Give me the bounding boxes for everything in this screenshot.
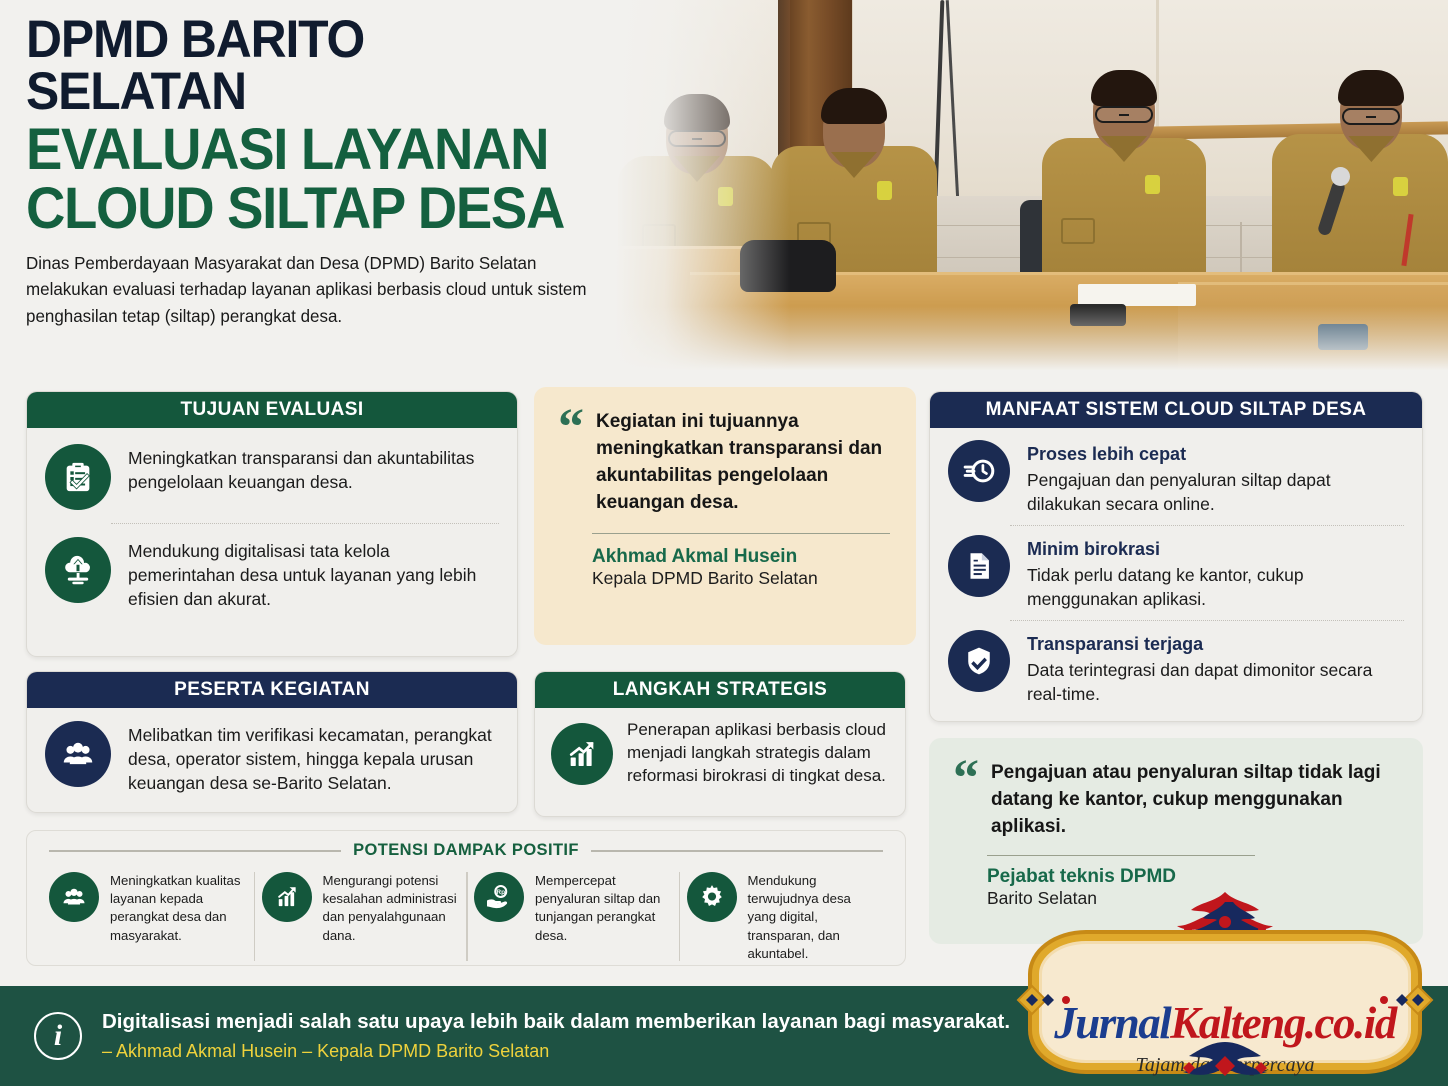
langkah-item: Penerapan aplikasi berbasis cloud menjad… — [551, 717, 889, 787]
manfaat-item-1-text: Pengajuan dan penyaluran siltap dapat di… — [1027, 470, 1331, 514]
ornament-bottom — [1125, 1036, 1325, 1086]
potensi-header-row: POTENSI DAMPAK POSITIF — [27, 831, 905, 860]
potensi-item-1: Meningkatkan kualitas layanan kepada per… — [41, 868, 254, 967]
section-potensi-dampak-positif: POTENSI DAMPAK POSITIF Meningkatkan kual… — [26, 830, 906, 966]
fast-clock-icon — [948, 440, 1010, 502]
quote-main-role: Kepala DPMD Barito Selatan — [592, 568, 890, 589]
meeting-photo — [600, 0, 1448, 376]
growth-chart-icon — [551, 723, 613, 785]
official-person-4-speaker — [1265, 68, 1448, 280]
card-peserta-header: PESERTA KEGIATAN — [27, 672, 517, 708]
hero-subtitle: Dinas Pemberdayaan Masyarakat dan Desa (… — [26, 250, 587, 329]
peserta-item: Melibatkan tim verifikasi kecamatan, per… — [45, 721, 499, 795]
infographic-page: DPMD BARITO SELATAN EVALUASI LAYANAN CLO… — [0, 0, 1448, 1086]
manfaat-item-1: Proses lebih cepat Pengajuan dan penyalu… — [948, 440, 1404, 516]
manfaat-item-3: Transparansi terjaga Data terintegrasi d… — [948, 630, 1404, 706]
card-tujuan-evaluasi: TUJUAN EVALUASI Meningkatkan transpa — [26, 391, 518, 657]
hero-text-block: DPMD BARITO SELATAN EVALUASI LAYANAN CLO… — [26, 14, 626, 329]
potensi-item-3-text: Mempercepat penyaluran siltap dan tunjan… — [535, 872, 671, 945]
quote-main-text: Kegiatan ini tujuannya meningkatkan tran… — [596, 409, 890, 517]
ornament-right — [1362, 972, 1436, 1028]
rupiah-hand-icon: Rp — [474, 872, 524, 922]
manfaat-item-1-title: Proses lebih cepat — [1027, 442, 1404, 467]
potensi-title: POTENSI DAMPAK POSITIF — [353, 841, 579, 860]
document-icon — [948, 535, 1010, 597]
people-group-icon — [49, 872, 99, 922]
photo-fade-bottom — [600, 306, 1448, 376]
page-title-line1: DPMD BARITO SELATAN — [26, 14, 590, 118]
tujuan-item-1-text: Meningkatkan transparansi dan akuntabili… — [128, 444, 499, 494]
manfaat-item-2-title: Minim birokrasi — [1027, 537, 1404, 562]
card-langkah-strategis: LANGKAH STRATEGIS Penerapan aplikasi ber… — [534, 671, 906, 817]
manfaat-item-3-text: Data terintegrasi dan dapat dimonitor se… — [1027, 660, 1372, 704]
rule-right — [591, 850, 883, 852]
potensi-item-4-text: Mendukung terwujudnya desa yang digital,… — [748, 872, 884, 963]
potensi-item-2-text: Mengurangi potensi kesalahan administras… — [323, 872, 459, 945]
divider — [1010, 525, 1404, 526]
clipboard-check-icon — [45, 444, 111, 510]
open-book — [1078, 284, 1196, 306]
quote-divider — [987, 855, 1255, 857]
info-icon: i — [34, 1012, 82, 1060]
quote-main-author: Akhmad Akmal Husein — [592, 546, 890, 568]
manfaat-item-3-title: Transparansi terjaga — [1027, 632, 1404, 657]
potensi-item-4: Mendukung terwujudnya desa yang digital,… — [679, 868, 892, 967]
card-tujuan-header: TUJUAN EVALUASI — [27, 392, 517, 428]
cloud-upload-icon — [45, 537, 111, 603]
divider — [111, 523, 499, 524]
peserta-text: Melibatkan tim verifikasi kecamatan, per… — [128, 721, 499, 795]
microphone-head — [1331, 167, 1350, 186]
potensi-item-3: Rp Mempercepat penyaluran siltap dan tun… — [466, 868, 679, 967]
quote-secondary-author: Pejabat teknis DPMD — [987, 866, 1397, 888]
manfaat-item-2-body: Minim birokrasi Tidak perlu datang ke ka… — [1027, 535, 1404, 611]
langkah-text: Penerapan aplikasi berbasis cloud menjad… — [627, 717, 889, 787]
footer-main-text: Digitalisasi menjadi salah satu upaya le… — [102, 1010, 1010, 1034]
ornament-left — [1014, 972, 1088, 1028]
quote-mark-icon: “ — [558, 409, 584, 517]
manfaat-item-1-body: Proses lebih cepat Pengajuan dan penyalu… — [1027, 440, 1404, 516]
gear-icon — [687, 872, 737, 922]
tujuan-item-1: Meningkatkan transparansi dan akuntabili… — [45, 444, 499, 510]
divider — [1010, 620, 1404, 621]
people-group-icon — [45, 721, 111, 787]
tujuan-item-2: Mendukung digitalisasi tata kelola pemer… — [45, 537, 499, 611]
shield-check-icon — [948, 630, 1010, 692]
potensi-item-2: Mengurangi potensi kesalahan administras… — [254, 868, 467, 967]
potensi-item-1-text: Meningkatkan kualitas layanan kepada per… — [110, 872, 246, 945]
page-title-line3: CLOUD SILTAP DESA — [26, 181, 590, 236]
footer-text-block: Digitalisasi menjadi salah satu upaya le… — [102, 1010, 1010, 1062]
card-manfaat: MANFAAT SISTEM CLOUD SILTAP DESA Proses … — [929, 391, 1423, 722]
official-person-3 — [1035, 70, 1213, 280]
rule-left — [49, 850, 341, 852]
quote-secondary-text: Pengajuan atau penyaluran siltap tidak l… — [991, 760, 1397, 841]
card-langkah-header: LANGKAH STRATEGIS — [535, 672, 905, 708]
manfaat-item-2-text: Tidak perlu datang ke kantor, cukup meng… — [1027, 565, 1304, 609]
card-peserta-kegiatan: PESERTA KEGIATAN Melibatkan tim verifika… — [26, 671, 518, 813]
manfaat-item-2: Minim birokrasi Tidak perlu datang ke ka… — [948, 535, 1404, 611]
footer-attribution: – Akhmad Akmal Husein – Kepala DPMD Bari… — [102, 1041, 1010, 1062]
quote-mark-icon: “ — [953, 760, 979, 841]
page-title-line2: EVALUASI LAYANAN — [26, 122, 590, 177]
jurnalkalteng-logo: JurnalKalteng.co.id Tajam dan Terpercaya — [1010, 894, 1440, 1086]
tujuan-item-2-text: Mendukung digitalisasi tata kelola pemer… — [128, 537, 499, 611]
svg-text:Rp: Rp — [496, 889, 505, 896]
quote-card-main: “ Kegiatan ini tujuannya meningkatkan tr… — [534, 387, 916, 645]
manfaat-item-3-body: Transparansi terjaga Data terintegrasi d… — [1027, 630, 1404, 706]
card-manfaat-header: MANFAAT SISTEM CLOUD SILTAP DESA — [930, 392, 1422, 428]
quote-divider — [592, 533, 890, 535]
bar-chart-icon — [262, 872, 312, 922]
